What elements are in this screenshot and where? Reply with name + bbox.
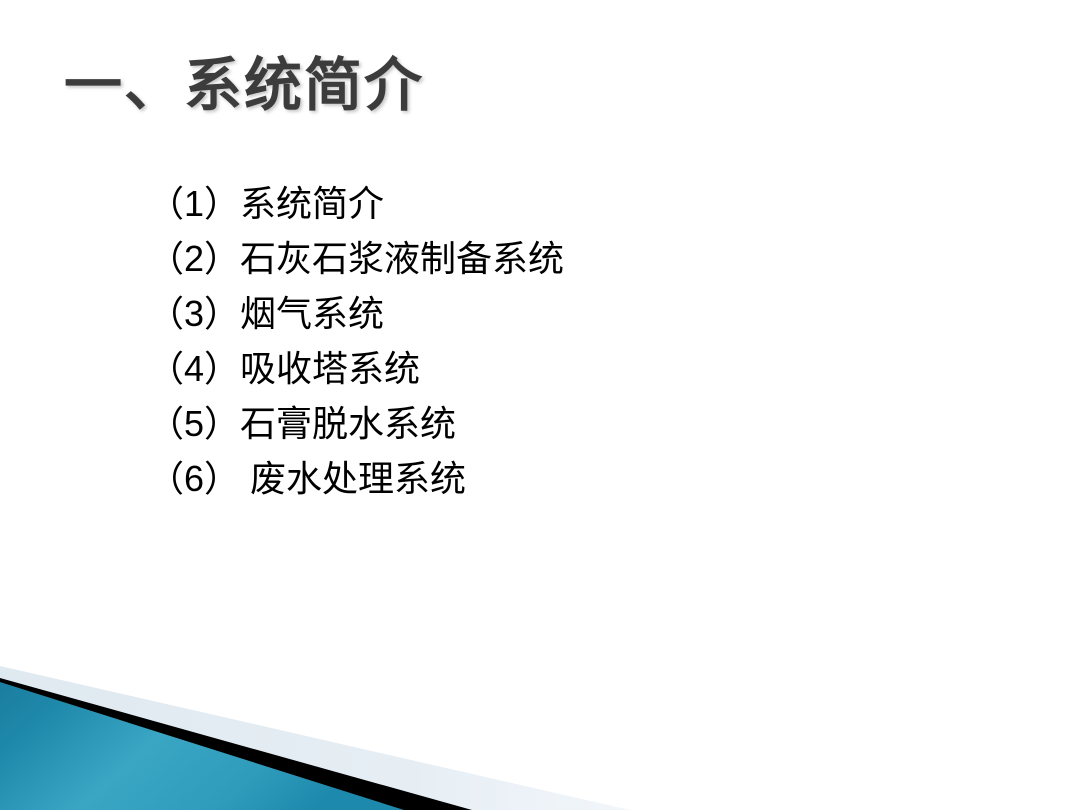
list-item: （6） 废水处理系统 bbox=[148, 451, 968, 506]
list-item: （5）石膏脱水系统 bbox=[148, 396, 968, 451]
list-item: （1）系统简介 bbox=[148, 176, 968, 231]
list-item: （2）石灰石浆液制备系统 bbox=[148, 231, 968, 286]
list-item: （3）烟气系统 bbox=[148, 286, 968, 341]
presentation-slide: 一、系统简介 （1）系统简介 （2）石灰石浆液制备系统 （3）烟气系统 （4）吸… bbox=[0, 0, 1080, 810]
angled-ribbon-decoration bbox=[0, 660, 1080, 810]
teal-band bbox=[0, 682, 404, 810]
pale-blue-band bbox=[0, 666, 630, 810]
list-item: （4）吸收塔系统 bbox=[148, 341, 968, 396]
black-stripe bbox=[0, 678, 472, 810]
page-title: 一、系统简介 bbox=[64, 54, 424, 118]
content-list: （1）系统简介 （2）石灰石浆液制备系统 （3）烟气系统 （4）吸收塔系统 （5… bbox=[148, 176, 968, 506]
